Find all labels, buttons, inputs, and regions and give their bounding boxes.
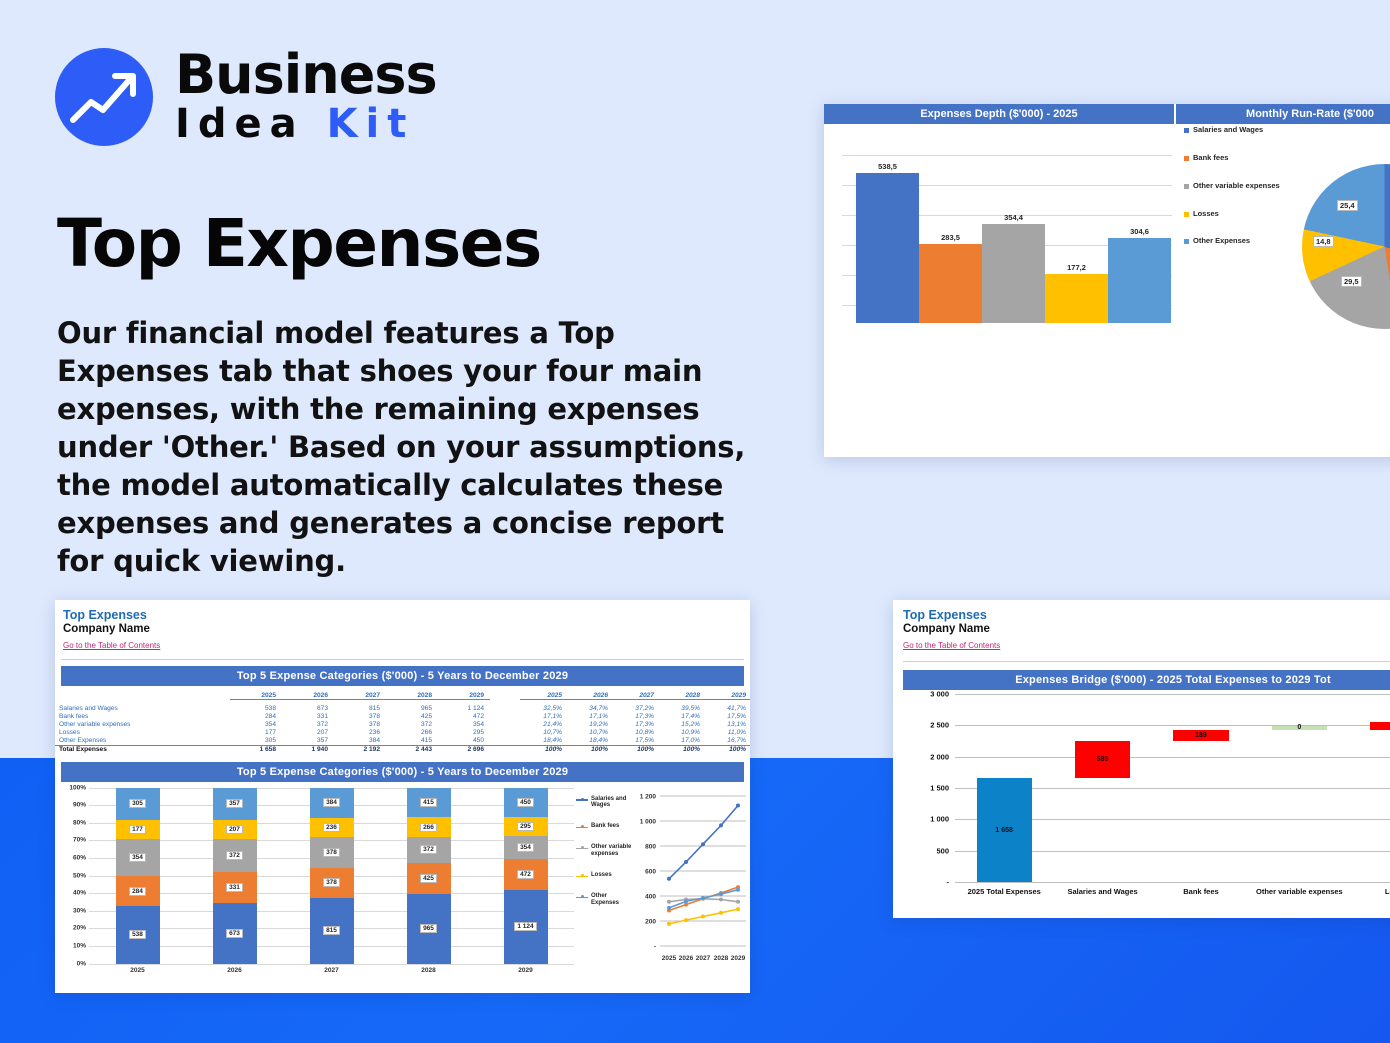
x-tick: 2026 bbox=[213, 967, 257, 974]
legend-label: Losses bbox=[1193, 210, 1219, 219]
bridge-bar: 585 bbox=[1075, 741, 1130, 778]
legend-swatch-icon bbox=[1184, 239, 1189, 244]
y-tick: 500 bbox=[936, 846, 949, 855]
pctcol-2026: 2026 bbox=[566, 691, 612, 700]
svg-text:-: - bbox=[654, 943, 656, 950]
svg-text:2026: 2026 bbox=[679, 955, 694, 962]
legend-label: Bank fees bbox=[591, 823, 619, 830]
y-tick: - bbox=[947, 878, 950, 887]
bar-losses: 177,2 bbox=[1045, 155, 1108, 323]
bar-bank-fees: 283,5 bbox=[919, 155, 982, 323]
pie-label-other-variable: 29,5 bbox=[1341, 276, 1362, 287]
brand-kit: Kit bbox=[327, 101, 415, 147]
y-tick: 1 500 bbox=[930, 784, 949, 793]
y-tick: 70% bbox=[73, 837, 86, 844]
sheet-title: Top Expenses bbox=[903, 608, 1390, 622]
bar-label: 354,4 bbox=[982, 213, 1045, 222]
y-tick: 60% bbox=[73, 854, 86, 861]
legend-item: Other Expenses bbox=[576, 893, 632, 907]
svg-text:200: 200 bbox=[645, 918, 656, 925]
stacked-col-2029: 450 295 354 472 1 124 2029 bbox=[504, 788, 548, 964]
bridge-col-salaries: 585 Salaries and Wages bbox=[1053, 694, 1151, 882]
chart-top5-stacked: 100% 90% 80% 70% 60% 50% 40% 30% 20% 10%… bbox=[55, 782, 750, 982]
table-row: Losses 177 207 236 266 295 10,7% 10,7% 1… bbox=[55, 729, 750, 737]
stacked-plot: 100% 90% 80% 70% 60% 50% 40% 30% 20% 10%… bbox=[89, 788, 574, 964]
row-label: Bank fees bbox=[55, 713, 230, 721]
x-tick: Bank fees bbox=[1152, 887, 1250, 896]
legend-top5-lines: Salaries and Wages Bank fees Other varia… bbox=[576, 796, 632, 921]
legend-item: Losses bbox=[576, 872, 632, 879]
svg-text:400: 400 bbox=[645, 893, 656, 900]
stacked-columns: 305 177 354 284 538 2025 357 207 372 331… bbox=[89, 788, 574, 964]
legend-item: Bank fees bbox=[576, 823, 632, 830]
table-title: Top 5 Expense Categories ($'000) - 5 Yea… bbox=[61, 666, 744, 686]
legend-item: Losses bbox=[1184, 210, 1294, 219]
table-row: Other Expenses 305 357 384 415 450 18,4%… bbox=[55, 737, 750, 746]
pctcol-2029: 2029 bbox=[704, 691, 750, 700]
col-2029: 2029 bbox=[438, 691, 490, 700]
svg-text:2029: 2029 bbox=[731, 955, 746, 962]
bar-label: 177,2 bbox=[1045, 263, 1108, 272]
svg-text:600: 600 bbox=[645, 868, 656, 875]
bridge-col-bank-fees: 189 Bank fees bbox=[1152, 694, 1250, 882]
pie-label-other-expenses: 25,4 bbox=[1337, 200, 1358, 211]
table-row: Salaries and Wages 538 673 815 965 1 124… bbox=[55, 705, 750, 713]
x-tick: Other variable expenses bbox=[1250, 887, 1348, 896]
brand-idea: Idea bbox=[175, 101, 327, 147]
svg-text:2027: 2027 bbox=[696, 955, 711, 962]
y-tick: 90% bbox=[73, 802, 86, 809]
table-row: Bank fees 284 331 378 425 472 17,1% 17,1… bbox=[55, 713, 750, 721]
line-marker-icon bbox=[576, 824, 588, 830]
legend-item: Other Expenses bbox=[1184, 237, 1294, 246]
toc-link[interactable]: Go to the Table of Contents bbox=[63, 641, 160, 650]
page-description: Our financial model features a Top Expen… bbox=[57, 315, 757, 581]
row-label: Losses bbox=[55, 729, 230, 737]
chart-title-expenses-depth: Expenses Depth ($'000) - 2025 bbox=[824, 104, 1176, 124]
x-tick: 2028 bbox=[407, 967, 451, 974]
row-label: Salaries and Wages bbox=[55, 705, 230, 713]
legend-item: Bank fees bbox=[1184, 154, 1294, 163]
x-tick: Salaries and Wages bbox=[1053, 887, 1151, 896]
legend-label: Losses bbox=[591, 872, 612, 879]
legend-label: Other Expenses bbox=[591, 893, 632, 907]
chart-monthly-run-rate: 25,4 14,8 29,5 bbox=[1302, 164, 1390, 339]
stacked-col-2028: 415 266 372 425 965 2028 bbox=[407, 788, 451, 964]
page-title: Top Expenses bbox=[57, 205, 541, 282]
legend-swatch-icon bbox=[1184, 184, 1189, 189]
pctcol-2025: 2025 bbox=[520, 691, 566, 700]
sheet-company: Company Name bbox=[903, 623, 1390, 635]
pctcol-2028: 2028 bbox=[658, 691, 704, 700]
panel-a-headers: Expenses Depth ($'000) - 2025 Monthly Ru… bbox=[824, 104, 1390, 124]
y-tick: 1 000 bbox=[930, 815, 949, 824]
y-tick: 80% bbox=[73, 819, 86, 826]
bridge-plot: 3 000 2 500 2 000 1 500 1 000 500 - 1 65… bbox=[955, 694, 1390, 882]
bridge-chart-title: Expenses Bridge ($'000) - 2025 Total Exp… bbox=[903, 670, 1390, 690]
legend-expenses-depth: Salaries and Wages Bank fees Other varia… bbox=[1184, 126, 1294, 265]
y-tick: 20% bbox=[73, 925, 86, 932]
sheet-title: Top Expenses bbox=[63, 608, 750, 622]
top5-expense-table: 2025 2026 2027 2028 2029 2025 2026 2027 … bbox=[55, 691, 750, 754]
panel-top5-sheet: Top Expenses Company Name Go to the Tabl… bbox=[55, 600, 750, 993]
brand-logo: Business Idea Kit bbox=[55, 48, 437, 146]
stacked-col-2027: 384 236 378 378 815 2027 bbox=[310, 788, 354, 964]
bar-label: 538,5 bbox=[856, 162, 919, 171]
bridge-bar: 189 bbox=[1173, 730, 1228, 742]
x-tick: 2025 bbox=[116, 967, 160, 974]
y-tick: 0% bbox=[77, 960, 86, 967]
svg-text:2028: 2028 bbox=[714, 955, 729, 962]
x-tick: 2027 bbox=[310, 967, 354, 974]
bridge-bar: 1 bbox=[1370, 722, 1390, 730]
bridge-bar: 1 658 bbox=[977, 778, 1032, 882]
bridge-col-other-variable: 0 Other variable expenses bbox=[1250, 694, 1348, 882]
y-tick: 30% bbox=[73, 907, 86, 914]
legend-label: Other variable expenses bbox=[591, 844, 632, 858]
y-tick: 40% bbox=[73, 890, 86, 897]
bar-other-variable: 354,4 bbox=[982, 155, 1045, 323]
svg-text:800: 800 bbox=[645, 843, 656, 850]
brand-name-secondary: Idea Kit bbox=[175, 103, 437, 145]
y-tick: 2 000 bbox=[930, 752, 949, 761]
y-tick: 10% bbox=[73, 942, 86, 949]
line-marker-icon bbox=[576, 797, 588, 803]
panel-expenses-depth: Expenses Depth ($'000) - 2025 Monthly Ru… bbox=[824, 104, 1390, 457]
legend-swatch-icon bbox=[1184, 212, 1189, 217]
toc-link[interactable]: Go to the Table of Contents bbox=[903, 641, 1000, 650]
y-tick: 100% bbox=[69, 784, 86, 791]
line-marker-icon bbox=[576, 894, 588, 900]
stacked-col-2026: 357 207 372 331 673 2026 bbox=[213, 788, 257, 964]
col-2027: 2027 bbox=[334, 691, 386, 700]
legend-item: Salaries and Wages bbox=[576, 796, 632, 810]
legend-item: Other variable expenses bbox=[576, 844, 632, 858]
legend-label: Salaries and Wages bbox=[1193, 126, 1263, 135]
trend-arrow-icon bbox=[55, 48, 153, 146]
bridge-bar: 0 bbox=[1272, 726, 1327, 729]
bar-label: 283,5 bbox=[919, 233, 982, 242]
svg-text:1 200: 1 200 bbox=[640, 793, 657, 800]
legend-label: Other variable expenses bbox=[1193, 182, 1280, 191]
legend-label: Other Expenses bbox=[1193, 237, 1250, 246]
chart-expenses-depth: 538,5 283,5 354,4 177,2 304,6 bbox=[842, 138, 1172, 323]
chart-top5-lines: 1 2001 000 800600 400200 - bbox=[634, 788, 746, 966]
y-tick: 2 500 bbox=[930, 721, 949, 730]
table-total-row: Total Expenses 1 658 1 940 2 192 2 443 2… bbox=[55, 745, 750, 754]
col-2028: 2028 bbox=[386, 691, 438, 700]
col-2026: 2026 bbox=[282, 691, 334, 700]
row-label: Total Expenses bbox=[55, 745, 230, 754]
svg-text:2025: 2025 bbox=[662, 955, 677, 962]
x-tick: Losses bbox=[1349, 887, 1390, 896]
legend-swatch-icon bbox=[1184, 156, 1189, 161]
legend-item: Salaries and Wages bbox=[1184, 126, 1294, 135]
x-tick: 2025 Total Expenses bbox=[955, 887, 1053, 896]
x-tick: 2029 bbox=[504, 967, 548, 974]
pie-label-losses: 14,8 bbox=[1313, 236, 1334, 247]
legend-swatch-icon bbox=[1184, 128, 1189, 133]
chart-title-monthly-run-rate: Monthly Run-Rate ($'000 bbox=[1176, 104, 1390, 124]
chart-expenses-bridge: 3 000 2 500 2 000 1 500 1 000 500 - 1 65… bbox=[893, 694, 1390, 906]
bar-other-expenses: 304,6 bbox=[1108, 155, 1171, 323]
row-label: Other Expenses bbox=[55, 737, 230, 746]
col-2025: 2025 bbox=[230, 691, 282, 700]
table-header-row: 2025 2026 2027 2028 2029 2025 2026 2027 … bbox=[55, 691, 750, 700]
y-tick: 50% bbox=[73, 872, 86, 879]
y-tick: 3 000 bbox=[930, 690, 949, 699]
table-row: Other variable expenses 354 372 378 372 … bbox=[55, 721, 750, 729]
svg-text:1 000: 1 000 bbox=[640, 818, 657, 825]
bridge-col-losses: 1 Losses bbox=[1349, 694, 1390, 882]
legend-label: Salaries and Wages bbox=[591, 796, 632, 810]
line-marker-icon bbox=[576, 873, 588, 879]
bridge-col-2025-total: 1 658 2025 Total Expenses bbox=[955, 694, 1053, 882]
legend-label: Bank fees bbox=[1193, 154, 1228, 163]
legend-item: Other variable expenses bbox=[1184, 182, 1294, 191]
brand-name-primary: Business bbox=[175, 49, 437, 100]
panel-expenses-bridge: Top Expenses Company Name Go to the Tabl… bbox=[893, 600, 1390, 918]
sheet-company: Company Name bbox=[63, 623, 750, 635]
bar-salaries: 538,5 bbox=[856, 155, 919, 323]
pctcol-2027: 2027 bbox=[612, 691, 658, 700]
row-label: Other variable expenses bbox=[55, 721, 230, 729]
expenses-depth-bars: 538,5 283,5 354,4 177,2 304,6 bbox=[856, 155, 1172, 323]
line-marker-icon bbox=[576, 845, 588, 851]
stacked-chart-title: Top 5 Expense Categories ($'000) - 5 Yea… bbox=[61, 762, 744, 782]
stacked-col-2025: 305 177 354 284 538 2025 bbox=[116, 788, 160, 964]
bar-label: 304,6 bbox=[1108, 227, 1171, 236]
